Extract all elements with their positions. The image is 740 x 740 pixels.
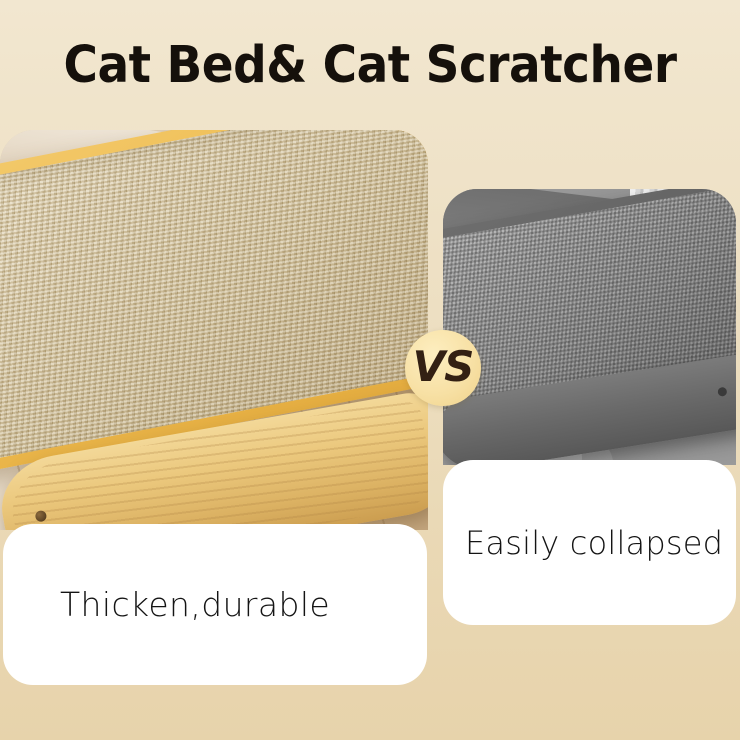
caption-card-left: Thicken,durable (3, 524, 427, 685)
caption-left-text: Thicken,durable (60, 585, 330, 624)
versus-badge: VS (405, 330, 481, 406)
page-title: Cat Bed& Cat Scratcher (30, 36, 711, 95)
promo-banner: Cat Bed& Cat Scratcher (0, 0, 740, 740)
caption-right-text: Easily collapsed (465, 524, 723, 562)
versus-label: VS (413, 346, 474, 388)
collapsed-rail-screw (717, 387, 727, 397)
product-photo-right (443, 189, 736, 465)
product-photo-left (0, 130, 428, 530)
caption-card-right: Easily collapsed (443, 460, 736, 625)
